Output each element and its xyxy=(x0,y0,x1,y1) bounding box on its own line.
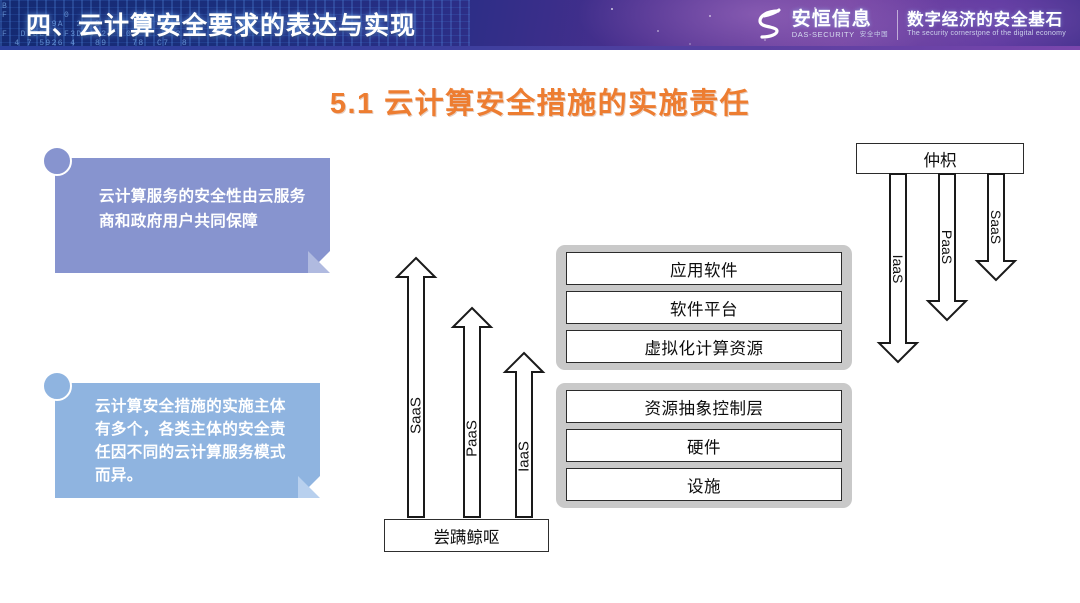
down-arrow-label: IaaS xyxy=(890,255,906,284)
callout-text: 云计算安全措施的实施主体有多个，各类主体的安全责任因不同的云计算服务模式而异。 xyxy=(95,395,300,487)
cloud-service-layers-group: 应用软件 软件平台 虚拟化计算资源 xyxy=(556,245,852,370)
layer-cell: 虚拟化计算资源 xyxy=(566,330,842,363)
callout-multiple-subjects: 云计算安全措施的实施主体有多个，各类主体的安全责任因不同的云计算服务模式而异。 xyxy=(55,383,320,498)
header-title: 四、云计算安全要求的表达与实现 xyxy=(26,6,416,42)
cloud-infrastructure-layers-group: 资源抽象控制层 硬件 设施 xyxy=(556,383,852,508)
logo-divider xyxy=(897,10,898,40)
callout-bullet-dot-icon xyxy=(42,371,72,401)
brand-name-cn: 安恒信息 xyxy=(792,10,888,30)
callout-text: 云计算服务的安全性由云服务商和政府用户共同保障 xyxy=(99,184,310,234)
up-arrow-label: IaaS xyxy=(516,441,533,472)
header-underline xyxy=(0,46,1080,50)
down-arrow-label: SaaS xyxy=(988,210,1004,244)
layer-cell: 硬件 xyxy=(566,429,842,462)
layer-cell: 资源抽象控制层 xyxy=(566,390,842,423)
right-diagram-top-box: 仲枳 xyxy=(856,143,1024,174)
brand-slogan-en: The security cornerstone of the digital … xyxy=(907,29,1066,39)
das-security-swirl-logo-icon xyxy=(755,8,785,42)
brand-name-en: DAS-SECURITY xyxy=(792,30,855,40)
brand-name-en-sub: 安全中国 xyxy=(860,30,888,40)
layer-cell: 设施 xyxy=(566,468,842,501)
down-arrow-saas: SaaS xyxy=(974,173,1018,283)
slide-canvas: B F 0 9A 2 8 C F D DE2 F3D04 2 0 2 PP 4 … xyxy=(0,0,1080,603)
down-arrow-paas: PaaS xyxy=(925,173,969,323)
up-arrow-saas: SaaS xyxy=(394,255,438,520)
down-arrow-iaas: IaaS xyxy=(876,173,920,365)
page-title: 5.1 云计算安全措施的实施责任 xyxy=(0,80,1080,122)
up-arrow-label: SaaS xyxy=(408,397,425,434)
callout-bullet-dot-icon xyxy=(42,146,72,176)
up-arrow-iaas: IaaS xyxy=(502,350,546,520)
down-arrow-label: PaaS xyxy=(939,230,955,264)
layer-cell: 应用软件 xyxy=(566,252,842,285)
up-arrow-label: PaaS xyxy=(464,420,481,457)
up-arrow-paas: PaaS xyxy=(450,305,494,520)
callout-shared-responsibility: 云计算服务的安全性由云服务商和政府用户共同保障 xyxy=(55,158,330,273)
slide-header: B F 0 9A 2 8 C F D DE2 F3D04 2 0 2 PP 4 … xyxy=(0,0,1080,50)
brand-logo: 安恒信息 DAS-SECURITY 安全中国 数字经济的安全基石 The sec… xyxy=(755,5,1066,45)
left-diagram-base-box: 尝蹒鲸呕 xyxy=(384,519,549,552)
brand-name-block: 安恒信息 DAS-SECURITY 安全中国 xyxy=(792,10,888,40)
layer-cell: 软件平台 xyxy=(566,291,842,324)
brand-name-en-row: DAS-SECURITY 安全中国 xyxy=(792,30,888,40)
brand-slogan-cn: 数字经济的安全基石 xyxy=(907,11,1066,29)
brand-slogan-block: 数字经济的安全基石 The security cornerstone of th… xyxy=(907,11,1066,39)
